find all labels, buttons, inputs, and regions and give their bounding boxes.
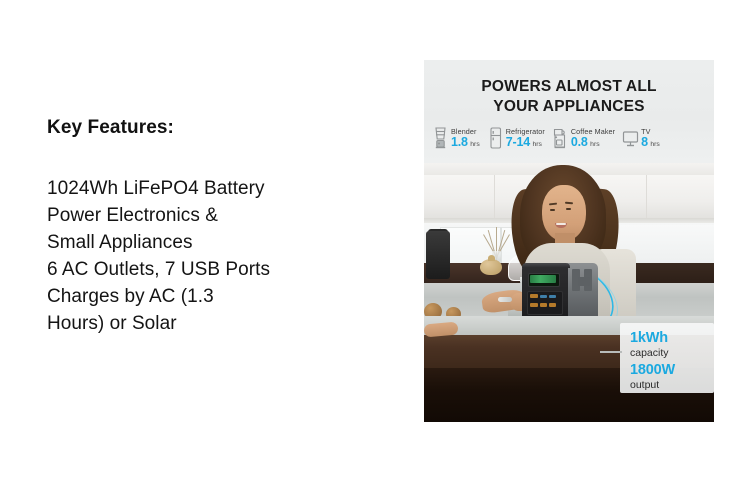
promo-title-line-1: POWERS ALMOST ALL xyxy=(424,77,714,97)
capacity-label: capacity xyxy=(630,346,712,360)
teeth xyxy=(556,223,566,225)
appliance-value: 0.8 xyxy=(571,136,588,149)
list-item: Small Appliances xyxy=(47,229,387,256)
lifestyle-photo: 1kWh capacity 1800W output xyxy=(424,163,714,422)
list-item: 1024Wh LiFePO4 Battery xyxy=(47,175,387,202)
cabinet-seam xyxy=(494,175,495,219)
appliance-stat-text: Refrigerator 7-14 hrs xyxy=(506,127,545,151)
appliance-stat-tv: TV 8 hrs xyxy=(622,126,660,151)
appliance-stat-text: Blender 1.8 hrs xyxy=(451,127,480,151)
refrigerator-icon xyxy=(487,126,504,151)
power-station-top xyxy=(522,263,570,268)
appliance-stat-coffee-maker: Coffee Maker 0.8 hrs xyxy=(552,126,615,151)
appliance-stat-text: TV 8 hrs xyxy=(641,127,660,151)
list-item: 6 AC Outlets, 7 USB Ports xyxy=(47,256,387,283)
eye xyxy=(566,208,571,210)
appliance-value: 8 xyxy=(641,136,648,149)
list-item: Charges by AC (1.3 xyxy=(47,283,387,310)
coffee-machine xyxy=(426,231,450,279)
coffee-maker-icon xyxy=(552,126,569,151)
appliance-value-row: 1.8 hrs xyxy=(451,136,480,151)
appliance-value: 7-14 xyxy=(506,136,530,149)
key-features-panel: Key Features: 1024Wh LiFePO4 Battery Pow… xyxy=(47,116,387,337)
capacity-output-callout: 1kWh capacity 1800W output xyxy=(630,330,712,394)
appliance-stat-blender: Blender 1.8 hrs xyxy=(432,126,480,151)
appliance-value: 1.8 xyxy=(451,136,468,149)
handle xyxy=(578,277,590,286)
callout-leader-line xyxy=(600,351,622,353)
appliance-unit: hrs xyxy=(470,138,479,151)
blender-icon xyxy=(432,126,449,151)
capacity-value: 1kWh xyxy=(630,330,712,346)
output-value: 1800W xyxy=(630,362,712,378)
appliance-unit: hrs xyxy=(650,138,659,151)
lcd-readout xyxy=(530,275,556,283)
teapot-lid xyxy=(488,255,495,261)
tv-icon xyxy=(622,126,639,151)
promo-header-banner: POWERS ALMOST ALL YOUR APPLIANCES Blende… xyxy=(424,60,714,163)
appliance-value-row: 8 hrs xyxy=(641,136,660,151)
appliance-value-row: 7-14 hrs xyxy=(506,136,545,151)
bracelet xyxy=(498,297,512,302)
appliance-unit: hrs xyxy=(532,138,541,151)
eye xyxy=(550,209,555,211)
appliance-stat-text: Coffee Maker 0.8 hrs xyxy=(571,127,615,151)
list-item: Hours) or Solar xyxy=(47,310,387,337)
appliance-value-row: 0.8 hrs xyxy=(571,136,615,151)
cabinet-seam xyxy=(646,175,647,219)
features-list: 1024Wh LiFePO4 Battery Power Electronics… xyxy=(47,175,387,337)
port-panel xyxy=(527,291,563,315)
appliance-stats-row: Blender 1.8 hrs xyxy=(432,126,706,151)
list-item: Power Electronics & xyxy=(47,202,387,229)
appliance-unit: hrs xyxy=(590,138,599,151)
product-image: POWERS ALMOST ALL YOUR APPLIANCES Blende… xyxy=(424,60,714,422)
appliance-stat-refrigerator: Refrigerator 7-14 hrs xyxy=(487,126,545,151)
page-title: Key Features: xyxy=(47,116,387,140)
promo-title-line-2: YOUR APPLIANCES xyxy=(424,97,714,117)
output-label: output xyxy=(630,378,712,392)
teapot xyxy=(480,259,502,275)
promo-title: POWERS ALMOST ALL YOUR APPLIANCES xyxy=(424,77,714,116)
